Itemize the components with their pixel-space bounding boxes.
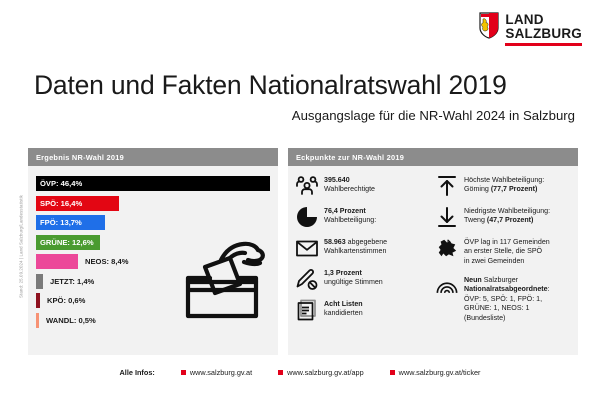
bar-row: SPÖ: 16,4% — [36, 196, 270, 211]
document-list-icon — [296, 299, 318, 321]
fact-text: 76,4 ProzentWahlbeteiligung: — [324, 206, 376, 226]
bar-row: KPÖ: 0,6% — [36, 293, 270, 308]
bar-row: ÖVP: 46,4% — [36, 176, 270, 191]
bar-label: FPÖ: 13,7% — [36, 218, 82, 227]
fact-item: 1,3 Prozentungültige Stimmen — [296, 268, 430, 290]
fact-item: 395.640Wahlberechtigte — [296, 175, 430, 197]
bar-label: JETZT: 1,4% — [43, 277, 94, 286]
fact-text: ÖVP lag in 117 Gemeindenan erster Stelle… — [464, 237, 550, 266]
key-facts-column-left: 395.640Wahlberechtigte76,4 ProzentWahlbe… — [296, 175, 430, 332]
footer-link[interactable]: www.salzburg.gv.at — [181, 368, 252, 377]
fact-text: 395.640Wahlberechtigte — [324, 175, 375, 195]
results-panel: Ergebnis NR-Wahl 2019 ÖVP: 46,4%SPÖ: 16,… — [28, 148, 278, 355]
bar-label: SPÖ: 16,4% — [36, 199, 82, 208]
bar-label: ÖVP: 46,4% — [36, 179, 82, 188]
invalid-pen-icon — [296, 268, 318, 290]
footer-link-list: www.salzburg.gv.atwww.salzburg.gv.at/app… — [181, 368, 481, 377]
bar-jetzt — [36, 274, 43, 289]
source-credit: Stand: 25.09.2024 | Land Salzburg/Landes… — [19, 182, 24, 312]
fact-item: Höchste Wahlbeteiligung:Göming (77,7 Pro… — [436, 175, 570, 197]
bar-row: FPÖ: 13,7% — [36, 215, 270, 230]
fact-text: Höchste Wahlbeteiligung:Göming (77,7 Pro… — [464, 175, 544, 195]
footer-link-label: www.salzburg.gv.at — [190, 368, 252, 377]
bullet-square-icon — [278, 370, 283, 375]
logo-underline — [505, 43, 582, 46]
envelope-icon — [296, 237, 318, 259]
land-salzburg-logo: LAND SALZBURG — [479, 12, 582, 46]
fact-item: 76,4 ProzentWahlbeteiligung: — [296, 206, 430, 228]
bar-övp: ÖVP: 46,4% — [36, 176, 270, 191]
bullet-square-icon — [390, 370, 395, 375]
bar-row: NEOS: 8,4% — [36, 254, 270, 269]
logo-line-land: LAND — [505, 13, 582, 27]
bar-row: JETZT: 1,4% — [36, 274, 270, 289]
arrow-down-icon — [436, 206, 458, 228]
footer-link-label: www.salzburg.gv.at/ticker — [399, 368, 481, 377]
fact-text: Neun SalzburgerNationalratsabgeordnete:Ö… — [464, 275, 550, 323]
fact-text: Niedrigste Wahlbeteiligung:Tweng (47,7 P… — [464, 206, 550, 226]
parliament-arch-icon — [436, 275, 458, 297]
results-panel-heading: Ergebnis NR-Wahl 2019 — [28, 148, 278, 166]
fact-item: Neun SalzburgerNationalratsabgeordnete:Ö… — [436, 275, 570, 323]
salzburg-coat-of-arms-icon — [479, 12, 499, 39]
footer-label: Alle Infos: — [120, 368, 155, 377]
fact-item: Acht Listenkandidierten — [296, 299, 430, 321]
fact-item: Niedrigste Wahlbeteiligung:Tweng (47,7 P… — [436, 206, 570, 228]
bar-spö: SPÖ: 16,4% — [36, 196, 119, 211]
arrow-up-icon — [436, 175, 458, 197]
fact-text: 1,3 Prozentungültige Stimmen — [324, 268, 383, 288]
pie-chart-icon — [296, 206, 318, 228]
fact-text: 58.963 abgegebeneWahlkartenstimmen — [324, 237, 387, 257]
bar-row: WANDL: 0,5% — [36, 313, 270, 328]
logo-line-salzburg: SALZBURG — [505, 27, 582, 41]
bullet-square-icon — [181, 370, 186, 375]
footer-link[interactable]: www.salzburg.gv.at/app — [278, 368, 364, 377]
bar-row: GRÜNE: 12,6% — [36, 235, 270, 250]
bar-label: WANDL: 0,5% — [39, 316, 96, 325]
key-facts-column-right: Höchste Wahlbeteiligung:Göming (77,7 Pro… — [436, 175, 570, 332]
fact-text: Acht Listenkandidierten — [324, 299, 363, 319]
infographic-page: Stand: 25.09.2024 | Land Salzburg/Landes… — [0, 0, 600, 400]
page-title: Daten und Fakten Nationalratswahl 2019 — [34, 70, 507, 101]
bar-label: KPÖ: 0,6% — [40, 296, 85, 305]
fact-item: ÖVP lag in 117 Gemeindenan erster Stelle… — [436, 237, 570, 266]
footer-link[interactable]: www.salzburg.gv.at/ticker — [390, 368, 481, 377]
bar-label: GRÜNE: 12,6% — [36, 238, 94, 247]
salzburg-map-icon — [436, 237, 458, 259]
fact-item: 58.963 abgegebeneWahlkartenstimmen — [296, 237, 430, 259]
footer-link-label: www.salzburg.gv.at/app — [287, 368, 364, 377]
results-bar-chart: ÖVP: 46,4%SPÖ: 16,4%FPÖ: 13,7%GRÜNE: 12,… — [28, 166, 278, 328]
page-subtitle: Ausgangslage für die NR-Wahl 2024 in Sal… — [292, 108, 575, 123]
bar-grüne: GRÜNE: 12,6% — [36, 235, 100, 250]
footer-links: Alle Infos: www.salzburg.gv.atwww.salzbu… — [0, 368, 600, 377]
key-facts-panel: Eckpunkte zur NR-Wahl 2019 395.640Wahlbe… — [288, 148, 578, 355]
bar-neos — [36, 254, 78, 269]
bar-label: NEOS: 8,4% — [78, 257, 128, 266]
people-group-icon — [296, 175, 318, 197]
key-facts-panel-heading: Eckpunkte zur NR-Wahl 2019 — [288, 148, 578, 166]
bar-fpö: FPÖ: 13,7% — [36, 215, 105, 230]
